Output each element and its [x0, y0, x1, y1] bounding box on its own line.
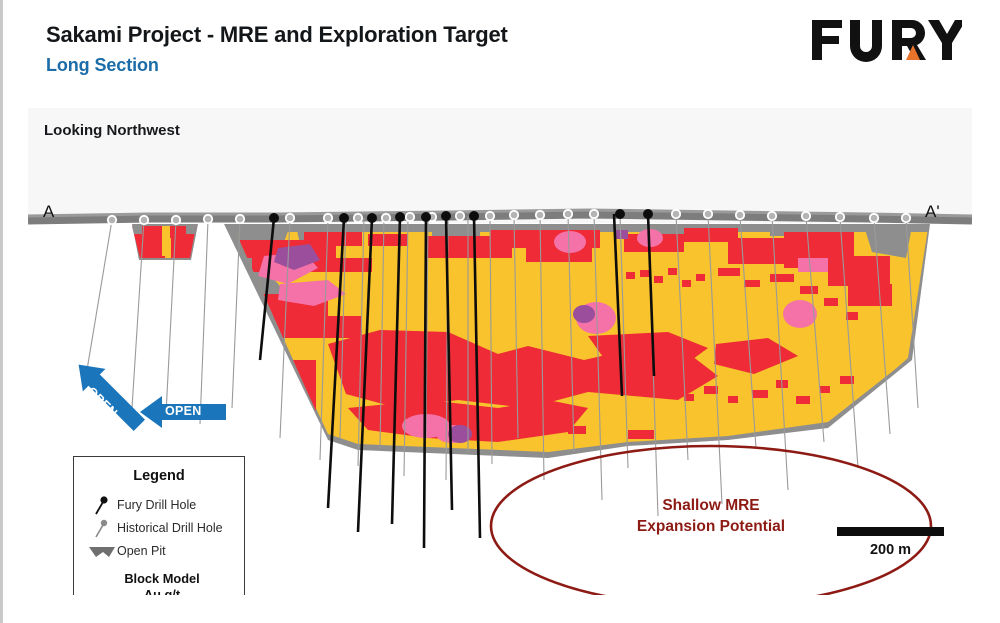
- legend-item-open-pit: Open Pit: [87, 539, 244, 562]
- open-pit-icon: [87, 540, 117, 562]
- open-arrow-west: [140, 395, 226, 429]
- page-subtitle: Long Section: [46, 55, 508, 76]
- legend-title: Legend: [74, 468, 244, 484]
- legend: Legend Fury Drill Hole: [73, 456, 245, 595]
- section-start-label: A: [43, 202, 54, 222]
- block-model-units: Au g/t: [80, 587, 244, 595]
- cross-section-figure: Looking Northwest A A': [28, 108, 972, 595]
- fury-logo: [810, 18, 962, 64]
- legend-item-label: Open Pit: [117, 544, 166, 558]
- section-end-label: A': [925, 202, 940, 222]
- fury-logo-icon: [810, 18, 962, 64]
- scale-bar: 200 m: [837, 527, 944, 558]
- legend-item-label: Historical Drill Hole: [117, 521, 223, 535]
- page-title: Sakami Project - MRE and Exploration Tar…: [46, 22, 508, 48]
- header: Sakami Project - MRE and Exploration Tar…: [46, 22, 508, 76]
- block-model-heading: Block Model Au g/t: [74, 571, 244, 595]
- scale-bar-label: 200 m: [837, 542, 944, 558]
- block-model-title: Block Model: [80, 571, 244, 587]
- view-direction-label: Looking Northwest: [44, 122, 180, 139]
- legend-item-fury-drill-hole: Fury Drill Hole: [87, 493, 244, 516]
- legend-item-label: Fury Drill Hole: [117, 498, 196, 512]
- expansion-potential-callout: Shallow MRE Expansion Potential: [601, 496, 821, 537]
- legend-rows: Fury Drill Hole Historical Drill Hole: [74, 493, 244, 562]
- fury-drill-hole-icon: [87, 494, 117, 516]
- scale-bar-line: [837, 527, 944, 536]
- topography-surface: [28, 210, 972, 220]
- figure-page: Sakami Project - MRE and Exploration Tar…: [0, 0, 1000, 623]
- callout-line-1: Shallow MRE: [601, 496, 821, 517]
- callout-line-2: Expansion Potential: [601, 517, 821, 538]
- legend-item-historical-drill-hole: Historical Drill Hole: [87, 516, 244, 539]
- historical-drill-hole-icon: [87, 517, 117, 539]
